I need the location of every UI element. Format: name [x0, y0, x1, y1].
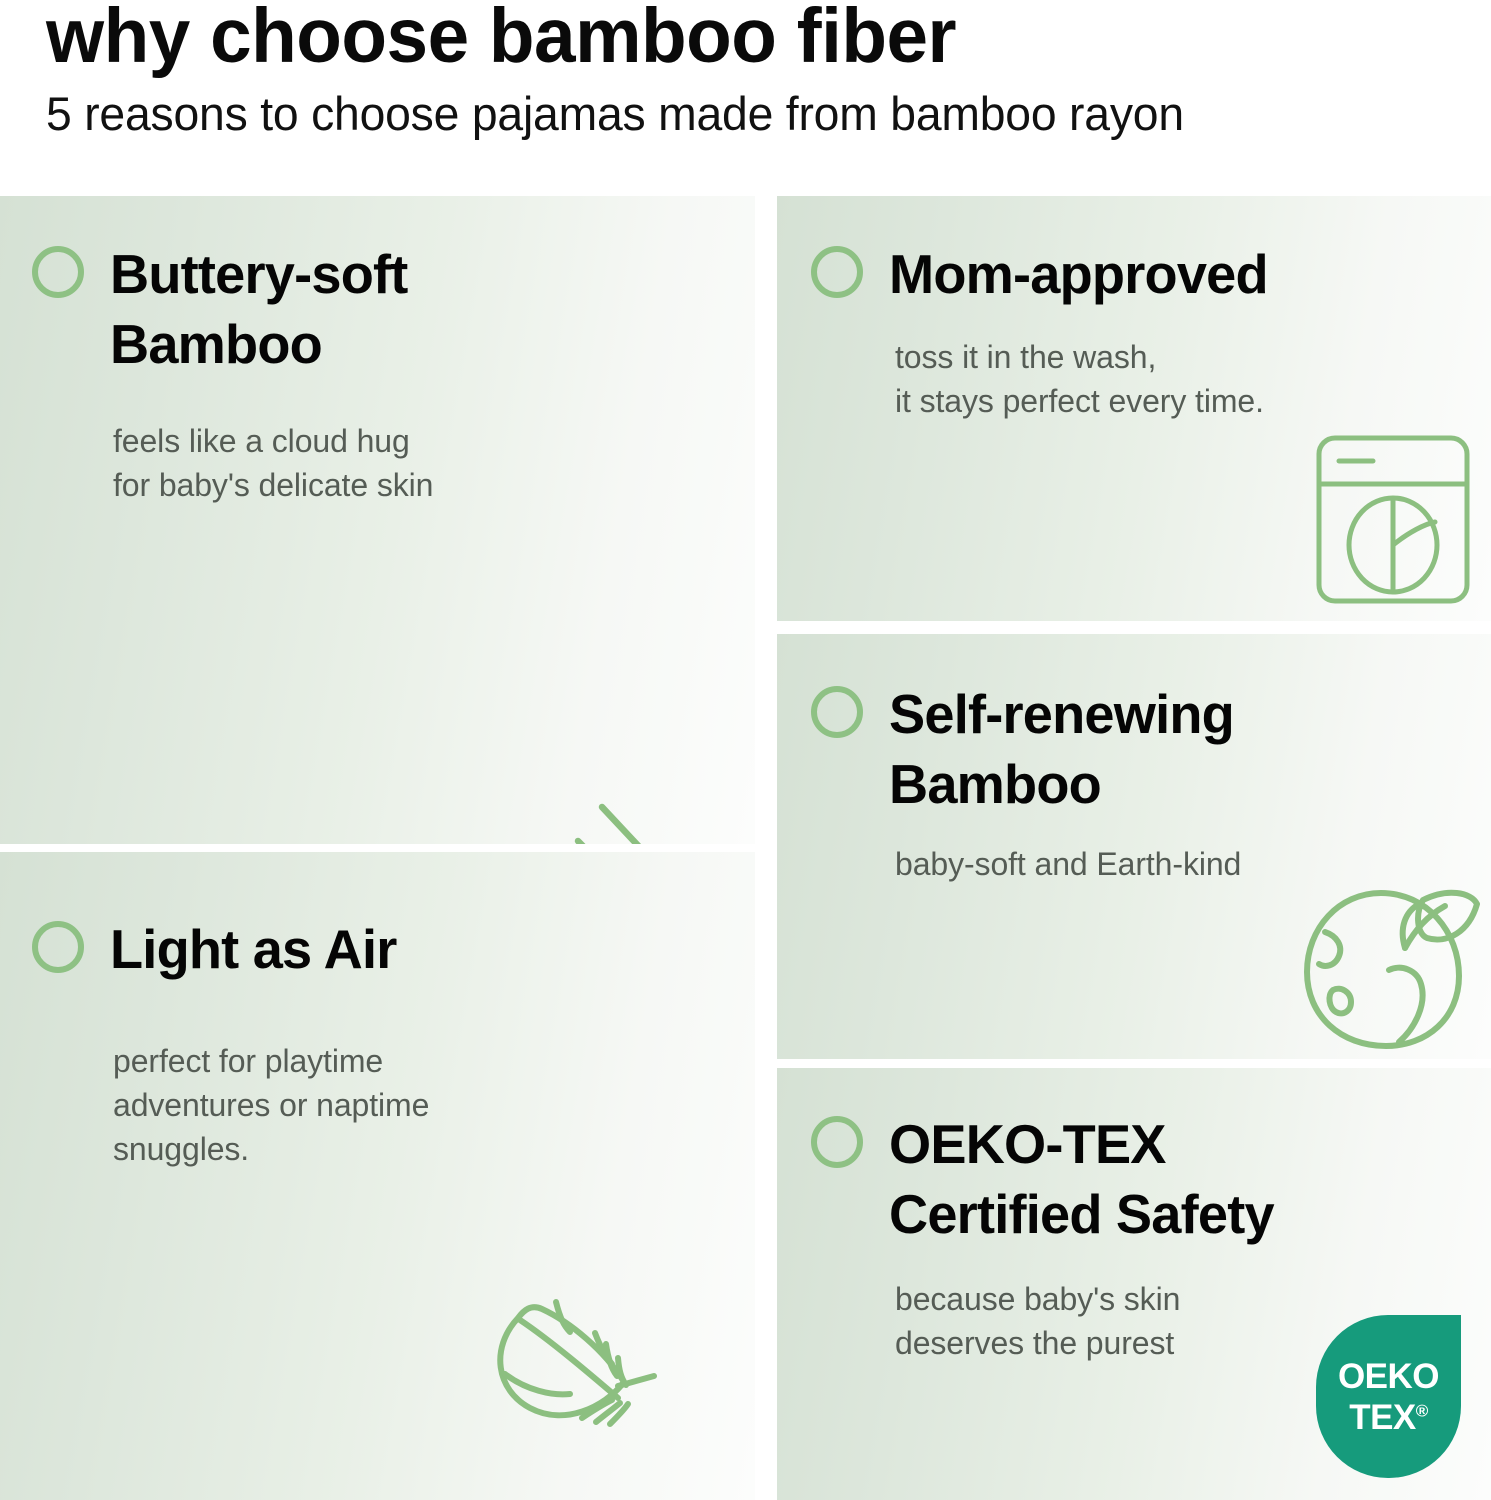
card-title: Mom-approved: [889, 239, 1268, 309]
card-description: toss it in the wash, it stays perfect ev…: [895, 335, 1264, 423]
circle-outline-icon: [32, 246, 84, 298]
card-description: baby-soft and Earth-kind: [895, 842, 1241, 886]
card-title: OEKO-TEX Certified Safety: [889, 1109, 1274, 1250]
card-title: Buttery-soft Bamboo: [110, 239, 408, 380]
hand-touch-fabric-icon: [498, 796, 728, 844]
card-description: perfect for playtime adventures or napti…: [113, 1039, 429, 1171]
card-heading-row: OEKO-TEX Certified Safety: [811, 1109, 1280, 1250]
page-title: why choose bamboo fiber: [46, 0, 956, 76]
card-heading-row: Mom-approved: [811, 239, 1274, 309]
circle-outline-icon: [32, 921, 84, 973]
feature-card-light-as-air: Light as Air perfect for playtime advent…: [0, 852, 755, 1500]
oeko-tex-badge-icon: OEKO TEX®: [1316, 1315, 1461, 1478]
card-description: feels like a cloud hug for baby's delica…: [113, 419, 433, 507]
card-description: because baby's skin deserves the purest: [895, 1277, 1180, 1365]
page-subtitle: 5 reasons to choose pajamas made from ba…: [46, 88, 1184, 140]
card-heading-row: Self-renewing Bamboo: [811, 679, 1239, 820]
feature-card-buttery-soft-bamboo: Buttery-soft Bamboo feels like a cloud h…: [0, 196, 755, 844]
earth-globe-leaf-icon: [1281, 858, 1481, 1053]
circle-outline-icon: [811, 686, 863, 738]
oeko-badge-line2: TEX®: [1349, 1400, 1428, 1435]
circle-outline-icon: [811, 246, 863, 298]
card-heading-row: Light as Air: [32, 914, 401, 984]
left-column: Buttery-soft Bamboo feels like a cloud h…: [0, 196, 755, 1500]
circle-outline-icon: [811, 1116, 863, 1168]
registered-mark-icon: ®: [1416, 1401, 1428, 1420]
oeko-badge-text: TEX: [1349, 1398, 1416, 1437]
oeko-badge-line1: OEKO: [1338, 1359, 1439, 1394]
page-header: why choose bamboo fiber 5 reasons to cho…: [0, 0, 1491, 196]
card-title: Self-renewing Bamboo: [889, 679, 1234, 820]
right-column: Mom-approved toss it in the wash, it sta…: [777, 196, 1491, 1500]
washing-machine-icon: [1313, 432, 1473, 607]
card-heading-row: Buttery-soft Bamboo: [32, 239, 412, 380]
card-title: Light as Air: [110, 914, 397, 984]
feature-card-oeko-tex-certified-safety: OEKO-TEX Certified Safety because baby's…: [777, 1068, 1491, 1500]
feature-card-self-renewing-bamboo: Self-renewing Bamboo baby-soft and Earth…: [777, 634, 1491, 1059]
feature-card-mom-approved: Mom-approved toss it in the wash, it sta…: [777, 196, 1491, 621]
